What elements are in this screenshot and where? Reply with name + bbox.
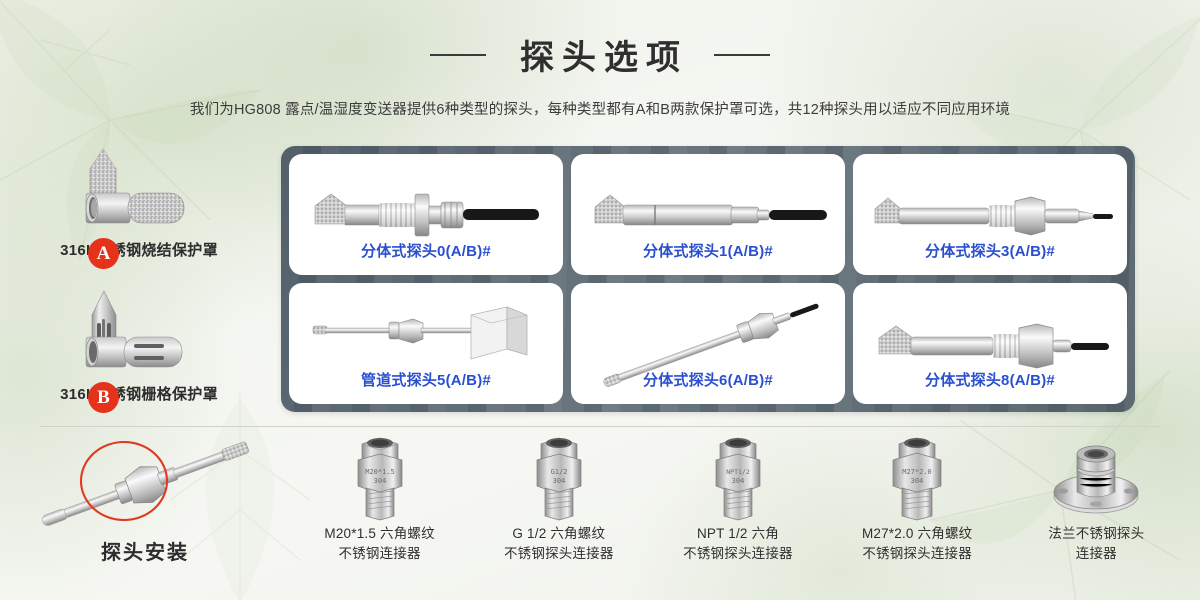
connector-label-line2: 不锈钢探头连接器 [830, 544, 1005, 564]
page-subtitle: 我们为HG808 露点/温湿度变送器提供6种类型的探头，每种类型都有A和B两款保… [0, 98, 1200, 119]
connector-item-m20[interactable]: M20*1.5 304 M20*1.5 六角螺纹 不锈钢连接器 [292, 432, 467, 565]
connector-label-m27: M27*2.0 六角螺纹 不锈钢探头连接器 [830, 524, 1005, 565]
connector-label-npt12: NPT 1/2 六角 不锈钢探头连接器 [650, 524, 825, 565]
svg-text:304: 304 [911, 477, 924, 485]
connector-item-npt12[interactable]: NPT1/2 304 NPT 1/2 六角 不锈钢探头连接器 [650, 432, 825, 565]
flange-fitting-icon [1009, 432, 1184, 524]
probe-card-1[interactable]: 分体式探头1(A/B)# [571, 154, 845, 275]
connector-label-g12: G 1/2 六角螺纹 不锈钢探头连接器 [471, 524, 646, 565]
probe-card-5[interactable]: 管道式探头5(A/B)# [289, 283, 563, 404]
connector-label-line1: M20*1.5 六角螺纹 [324, 526, 434, 541]
connector-label-line2: 不锈钢探头连接器 [650, 544, 825, 564]
probe-install-icon [0, 432, 290, 536]
guard-caption-a: 316L不锈钢烧结保护罩 [0, 239, 278, 260]
connector-label-line2: 不锈钢连接器 [292, 544, 467, 564]
probe-card-label-6: 分体式探头6(A/B)# [643, 369, 773, 404]
svg-text:M20*1.5: M20*1.5 [365, 468, 395, 476]
connector-label-line2: 连接器 [1009, 544, 1184, 564]
sintered-filter-guard-icon [0, 145, 278, 237]
connector-item-flange[interactable]: 法兰不锈钢探头 连接器 [1009, 432, 1184, 565]
probe-card-label-3: 分体式探头3(A/B)# [925, 240, 1055, 275]
svg-text:304: 304 [373, 477, 386, 485]
connector-label-line1: M27*2.0 六角螺纹 [862, 526, 972, 541]
connector-label-line1: G 1/2 六角螺纹 [512, 526, 605, 541]
title-dash-right [714, 54, 770, 56]
probe-install-block: 探头安装 [0, 432, 290, 592]
probe-options-page: 探头选项 我们为HG808 露点/温湿度变送器提供6种类型的探头，每种类型都有A… [0, 0, 1200, 600]
badge-a: A [88, 238, 119, 269]
grid-cage-guard-icon [0, 289, 278, 381]
connector-label-line2: 不锈钢探头连接器 [471, 544, 646, 564]
probe-card-label-1: 分体式探头1(A/B)# [643, 240, 773, 275]
svg-text:304: 304 [552, 477, 565, 485]
hex-fitting-m27-icon: M27*2.0 304 [830, 432, 1005, 524]
probe-card-label-5: 管道式探头5(A/B)# [361, 369, 491, 404]
hex-fitting-g12-icon: G1/2 304 [471, 432, 646, 524]
guard-options-column: A 316L不锈钢烧结保护罩 [0, 145, 278, 417]
probe-card-6[interactable]: 分体式探头6(A/B)# [571, 283, 845, 404]
probe-card-3[interactable]: 分体式探头3(A/B)# [853, 154, 1127, 275]
probe-card-label-8: 分体式探头8(A/B)# [925, 369, 1055, 404]
svg-text:G1/2: G1/2 [550, 468, 567, 476]
svg-text:NPT1/2: NPT1/2 [726, 468, 750, 476]
probe-card-grid: 分体式探头0(A/B)# 分体式探头1(A/B)# [281, 146, 1135, 412]
svg-text:304: 304 [732, 477, 745, 485]
connector-item-g12[interactable]: G1/2 304 G 1/2 六角螺纹 不锈钢探头连接器 [471, 432, 646, 565]
section-divider [40, 426, 1160, 427]
probe-card-0[interactable]: 分体式探头0(A/B)# [289, 154, 563, 275]
page-title-row: 探头选项 [0, 30, 1200, 79]
guard-option-b: B 316L不锈钢栅格保护罩 [0, 289, 278, 417]
title-dash-left [430, 54, 486, 56]
hex-fitting-npt12-icon: NPT1/2 304 [650, 432, 825, 524]
svg-text:M27*2.0: M27*2.0 [902, 468, 932, 476]
connector-label-line1: NPT 1/2 六角 [697, 526, 779, 541]
connector-label-m20: M20*1.5 六角螺纹 不锈钢连接器 [292, 524, 467, 565]
probe-card-8[interactable]: 分体式探头8(A/B)# [853, 283, 1127, 404]
guard-caption-b: 316L不锈钢栅格保护罩 [0, 383, 278, 404]
badge-b: B [88, 382, 119, 413]
guard-option-a: A 316L不锈钢烧结保护罩 [0, 145, 278, 273]
probe-card-label-0: 分体式探头0(A/B)# [361, 240, 491, 275]
page-title: 探头选项 [512, 30, 688, 79]
connector-label-line1: 法兰不锈钢探头 [1048, 526, 1144, 541]
probe-options-panel: 分体式探头0(A/B)# 分体式探头1(A/B)# [281, 146, 1135, 412]
installation-section: 探头安装 [0, 432, 1200, 600]
install-caption: 探头安装 [0, 536, 290, 565]
connector-label-flange: 法兰不锈钢探头 连接器 [1009, 524, 1184, 565]
connector-list: M20*1.5 304 M20*1.5 六角螺纹 不锈钢连接器 [290, 432, 1200, 565]
connector-item-m27[interactable]: M27*2.0 304 M27*2.0 六角螺纹 不锈钢探头连接器 [830, 432, 1005, 565]
hex-fitting-m20-icon: M20*1.5 304 [292, 432, 467, 524]
